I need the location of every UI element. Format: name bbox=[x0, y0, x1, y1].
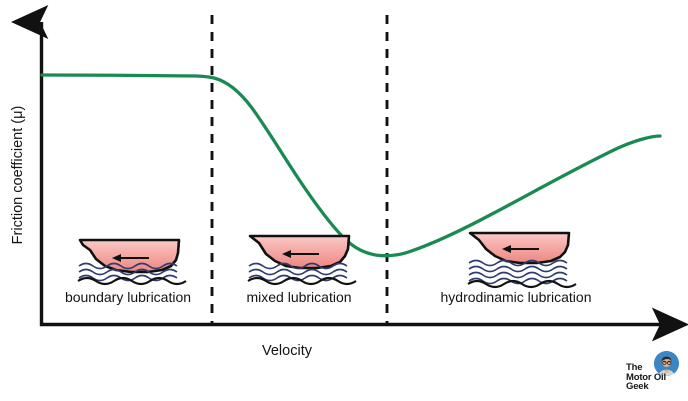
regime-label-hydrodynamic: hydrodinamic lubrication bbox=[441, 289, 592, 305]
stribeck-curve-figure: boundary lubrication mixed lubrication h… bbox=[0, 0, 688, 401]
divider-group bbox=[212, 15, 387, 323]
brand-logo[interactable]: The Motor Oil Geek bbox=[626, 351, 682, 397]
friction-curve-path bbox=[42, 75, 660, 256]
regime-label-mixed: mixed lubrication bbox=[246, 289, 351, 305]
mixed-block-shape bbox=[250, 236, 349, 268]
x-axis-title: Velocity bbox=[262, 343, 313, 359]
y-axis-title: Friction coefficient (μ) bbox=[10, 106, 26, 245]
illustration-hydrodynamic bbox=[468, 233, 576, 287]
chart-canvas: boundary lubrication mixed lubrication h… bbox=[0, 0, 688, 401]
illustration-mixed bbox=[248, 236, 356, 284]
regime-label-boundary: boundary lubrication bbox=[65, 289, 191, 305]
stribeck-curve bbox=[42, 75, 660, 256]
brand-wordmark: The Motor Oil Geek bbox=[626, 363, 672, 392]
brand-line-3: Geek bbox=[626, 382, 672, 392]
illustration-boundary bbox=[78, 240, 186, 284]
